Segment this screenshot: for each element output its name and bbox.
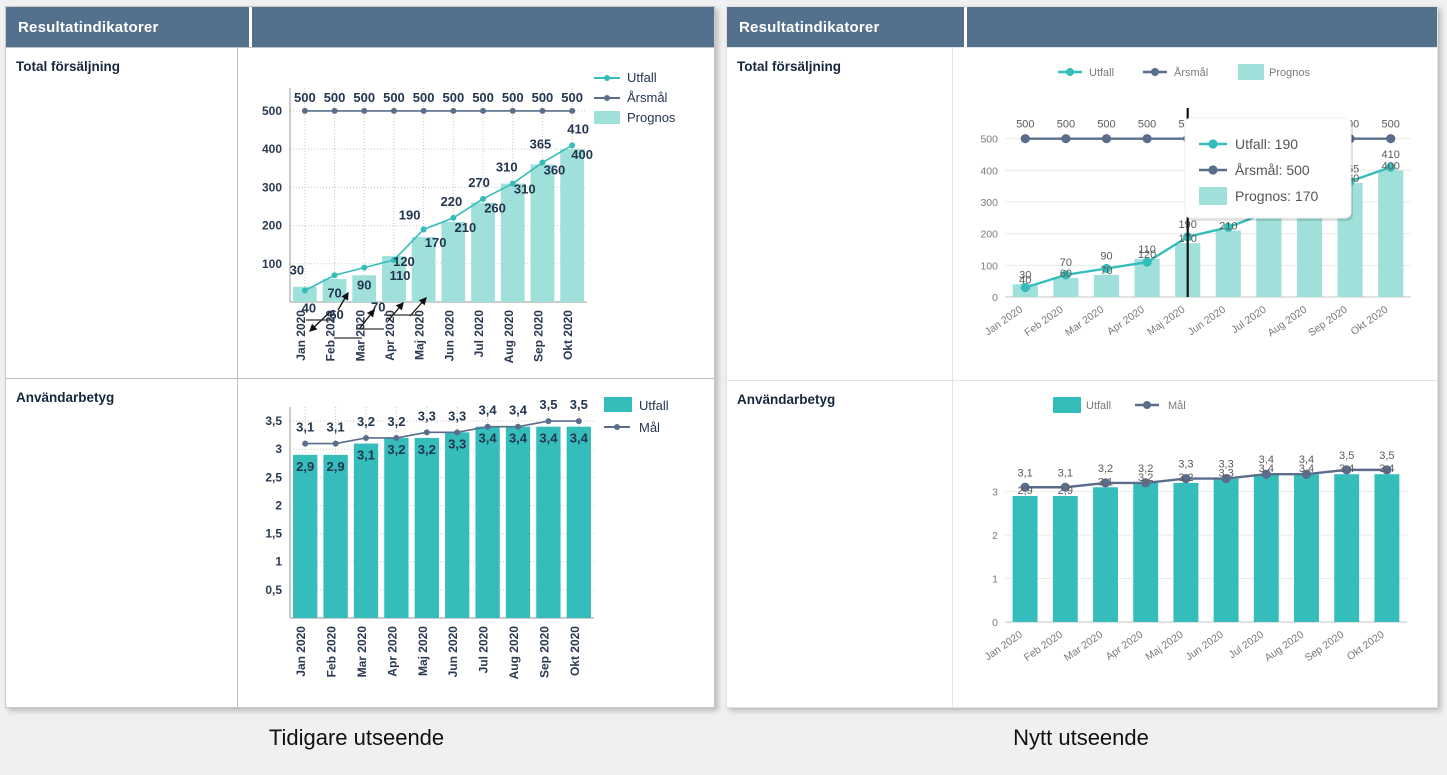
x-axis-tick-label: Jul 2020 bbox=[1229, 304, 1269, 337]
tooltip-label: Årsmål: 500 bbox=[1235, 162, 1310, 178]
value-label: 500 bbox=[532, 90, 554, 105]
value-label: 3,2 bbox=[387, 442, 405, 457]
data-point[interactable] bbox=[393, 435, 399, 441]
y-axis-tick-label: 100 bbox=[262, 257, 282, 271]
y-axis-tick-label: 500 bbox=[262, 104, 282, 118]
bar[interactable] bbox=[1093, 487, 1118, 622]
value-label: 3,1 bbox=[296, 420, 314, 435]
y-axis-tick-label: 200 bbox=[262, 219, 282, 233]
bar[interactable] bbox=[415, 438, 439, 618]
comparison-stage: Resultatindikatorer Total försäljning 10… bbox=[0, 0, 1447, 775]
value-label: 3,3 bbox=[1178, 459, 1193, 471]
x-axis-tick-label: Jun 2020 bbox=[446, 626, 460, 678]
x-axis-tick-label: Sep 2020 bbox=[1303, 629, 1347, 665]
x-axis-tick-label: Jan 2020 bbox=[294, 626, 308, 677]
chart-sales-new[interactable]: 0100200300400500Jan 2020Feb 2020Mar 2020… bbox=[953, 48, 1437, 379]
data-point[interactable] bbox=[480, 108, 486, 114]
data-point[interactable] bbox=[539, 108, 545, 114]
y-axis-tick-label: 0 bbox=[992, 292, 998, 304]
bar[interactable] bbox=[1053, 278, 1078, 297]
bar[interactable] bbox=[1254, 474, 1279, 622]
value-label: 120 bbox=[393, 254, 415, 269]
x-axis-tick-label: Sep 2020 bbox=[531, 310, 545, 362]
legend-label: Utfall bbox=[1086, 400, 1111, 412]
value-label: 3,5 bbox=[1379, 450, 1394, 462]
value-label: 500 bbox=[294, 90, 316, 105]
legend-item[interactable]: Mål bbox=[1135, 400, 1186, 412]
y-axis-tick-label: 1,5 bbox=[265, 527, 282, 541]
value-label: 3,4 bbox=[1379, 463, 1394, 475]
x-axis-tick-label: Apr 2020 bbox=[383, 310, 397, 361]
value-label: 3,4 bbox=[1339, 463, 1354, 475]
value-label: 500 bbox=[413, 90, 435, 105]
value-label: 365 bbox=[530, 137, 552, 152]
value-label: 2,9 bbox=[327, 459, 345, 474]
bar[interactable] bbox=[1216, 231, 1241, 298]
x-axis-tick-label: Maj 2020 bbox=[1145, 304, 1187, 339]
value-label: 500 bbox=[324, 90, 346, 105]
value-label: 310 bbox=[496, 160, 518, 175]
y-axis-tick-label: 300 bbox=[980, 197, 998, 209]
value-label: 3,4 bbox=[509, 431, 528, 446]
data-point[interactable] bbox=[1061, 134, 1070, 143]
value-label: 2,9 bbox=[1058, 485, 1073, 497]
legend-label: Mål bbox=[639, 420, 660, 435]
value-label: 310 bbox=[514, 182, 536, 197]
data-point[interactable] bbox=[450, 108, 456, 114]
x-axis-tick-label: Jan 2020 bbox=[983, 304, 1025, 339]
y-axis-tick-label: 3,5 bbox=[265, 414, 282, 428]
data-point[interactable] bbox=[302, 288, 308, 294]
x-axis-tick-label: Jan 2020 bbox=[983, 629, 1025, 664]
tooltip-label: Utfall: 190 bbox=[1235, 136, 1298, 152]
value-label: 60 bbox=[1060, 268, 1072, 280]
value-label: 70 bbox=[327, 285, 341, 300]
bar[interactable] bbox=[384, 438, 408, 618]
bar[interactable] bbox=[354, 444, 378, 618]
bar[interactable] bbox=[506, 427, 530, 618]
value-label: 3,5 bbox=[539, 397, 557, 412]
legend-label: Utfall bbox=[639, 398, 669, 413]
x-axis-tick-label: Sep 2020 bbox=[1306, 304, 1350, 340]
value-label: 3,4 bbox=[570, 431, 589, 446]
x-axis-tick-label: Apr 2020 bbox=[1105, 304, 1147, 338]
value-label: 260 bbox=[484, 201, 506, 216]
y-axis-tick-label: 200 bbox=[980, 229, 998, 241]
value-label: 3,1 bbox=[1017, 467, 1032, 479]
legend-label: Årsmål bbox=[627, 90, 668, 105]
bar[interactable] bbox=[536, 427, 560, 618]
value-label: 3,1 bbox=[1098, 476, 1113, 488]
tooltip-label: Prognos: 170 bbox=[1235, 188, 1318, 204]
value-label: 500 bbox=[442, 90, 464, 105]
x-axis-tick-label: Okt 2020 bbox=[1345, 629, 1387, 663]
data-point[interactable] bbox=[1021, 134, 1030, 143]
legend-item[interactable]: Årsmål bbox=[594, 90, 668, 105]
x-axis-tick-label: Okt 2020 bbox=[561, 310, 575, 360]
panel-new-design: Resultatindikatorer Total försäljning 01… bbox=[726, 6, 1438, 708]
value-label: 2,9 bbox=[1017, 485, 1032, 497]
chart-tooltip: Utfall: 190Årsmål: 500Prognos: 170 bbox=[1185, 118, 1353, 221]
value-label: 500 bbox=[472, 90, 494, 105]
value-label: 3,4 bbox=[479, 403, 498, 418]
value-label: 3,3 bbox=[1218, 459, 1233, 471]
data-point[interactable] bbox=[391, 108, 397, 114]
y-axis-tick-label: 1 bbox=[992, 574, 998, 586]
data-point[interactable] bbox=[515, 424, 521, 430]
legend-item[interactable]: Prognos bbox=[594, 110, 676, 125]
y-axis-tick-label: 400 bbox=[262, 142, 282, 156]
row-anvandarbetyg-old: Användarbetyg 0,511,522,533,5Jan 2020Feb… bbox=[6, 378, 714, 707]
x-axis-tick-label: Okt 2020 bbox=[1349, 304, 1391, 338]
panel-new-header: Resultatindikatorer bbox=[727, 7, 1437, 47]
y-axis-tick-label: 100 bbox=[980, 260, 998, 272]
x-axis-tick-label: Jul 2020 bbox=[1227, 629, 1267, 662]
data-point[interactable] bbox=[332, 108, 338, 114]
y-axis-tick-label: 2,5 bbox=[265, 470, 282, 484]
row-label-cell: Användarbetyg bbox=[727, 381, 952, 707]
legend-label: Prognos bbox=[627, 110, 676, 125]
bar[interactable] bbox=[1094, 275, 1119, 297]
x-axis-tick-label: Apr 2020 bbox=[1104, 629, 1146, 663]
chart-cell-sales-old: 100200300400500Jan 2020Feb 2020Mar 2020A… bbox=[237, 48, 714, 378]
y-axis-tick-label: 0,5 bbox=[265, 583, 282, 597]
chart-cell-rating-old: 0,511,522,533,5Jan 2020Feb 2020Mar 2020A… bbox=[237, 379, 714, 707]
x-axis-tick-label: Aug 2020 bbox=[1263, 629, 1307, 665]
value-label: 3,3 bbox=[418, 408, 436, 423]
value-label: 3,5 bbox=[570, 397, 588, 412]
value-label: 40 bbox=[302, 301, 316, 316]
value-label: 220 bbox=[440, 194, 462, 209]
panel-old-title: Resultatindikatorer bbox=[18, 19, 159, 36]
data-point[interactable] bbox=[361, 108, 367, 114]
x-axis-tick-label: Apr 2020 bbox=[385, 626, 399, 677]
value-label: 3,3 bbox=[448, 436, 466, 451]
bar[interactable] bbox=[293, 455, 317, 618]
panel-old-header: Resultatindikatorer bbox=[6, 7, 714, 47]
legend-label: Årsmål bbox=[1174, 66, 1208, 79]
caption-new-design: Nytt utseende bbox=[726, 725, 1436, 751]
chart-sales-old[interactable]: 100200300400500Jan 2020Feb 2020Mar 2020A… bbox=[238, 48, 714, 377]
value-label: 170 bbox=[425, 235, 447, 250]
value-label: 2,9 bbox=[296, 459, 314, 474]
data-point[interactable] bbox=[576, 418, 582, 424]
row-label-cell: Användarbetyg bbox=[6, 379, 237, 707]
row-label-cell: Total försäljning bbox=[727, 48, 952, 380]
bar[interactable] bbox=[1053, 496, 1078, 622]
row-label-total-forsaljning: Total försäljning bbox=[737, 59, 841, 74]
data-point[interactable] bbox=[363, 435, 369, 441]
bar[interactable] bbox=[1374, 474, 1399, 622]
x-axis-tick-label: Feb 2020 bbox=[325, 626, 339, 678]
value-label: 500 bbox=[1016, 119, 1034, 131]
data-point[interactable] bbox=[1386, 134, 1395, 143]
legend-item[interactable]: Utfall bbox=[1053, 397, 1111, 413]
value-label: 210 bbox=[1219, 221, 1237, 233]
panel-old-design: Resultatindikatorer Total försäljning 10… bbox=[5, 6, 715, 708]
value-label: 500 bbox=[1057, 119, 1075, 131]
value-label: 500 bbox=[353, 90, 375, 105]
value-label: 90 bbox=[1100, 251, 1112, 263]
value-label: 190 bbox=[399, 207, 421, 222]
data-point[interactable] bbox=[454, 429, 460, 435]
y-axis-tick-label: 3 bbox=[275, 442, 282, 456]
x-axis-tick-label: Jul 2020 bbox=[477, 626, 491, 674]
x-axis-tick-label: Mar 2020 bbox=[353, 310, 367, 362]
bar[interactable] bbox=[1013, 496, 1038, 622]
data-point[interactable] bbox=[332, 272, 338, 278]
x-axis-tick-label: Mar 2020 bbox=[1062, 629, 1105, 664]
value-label: 3,2 bbox=[1178, 472, 1193, 484]
value-label: 3,1 bbox=[327, 420, 345, 435]
header-blank-cell bbox=[967, 7, 1437, 47]
y-axis-tick-label: 500 bbox=[980, 134, 998, 146]
value-label: 3,2 bbox=[1138, 463, 1153, 475]
data-point[interactable] bbox=[421, 226, 427, 232]
bar[interactable] bbox=[1173, 483, 1198, 622]
value-label: 3,2 bbox=[1098, 463, 1113, 475]
value-label: 3,4 bbox=[509, 403, 528, 418]
value-label: 3,2 bbox=[357, 414, 375, 429]
bar[interactable] bbox=[1378, 170, 1403, 297]
bar[interactable] bbox=[445, 432, 469, 618]
value-label: 90 bbox=[357, 278, 371, 293]
bar[interactable] bbox=[471, 203, 495, 302]
value-label: 3,3 bbox=[448, 408, 466, 423]
x-axis-tick-label: Jun 2020 bbox=[1186, 304, 1228, 339]
value-label: 3,4 bbox=[539, 431, 558, 446]
value-label: 210 bbox=[454, 220, 476, 235]
chart-rating-new[interactable]: 0123Jan 2020Feb 2020Mar 2020Apr 2020Maj … bbox=[953, 381, 1437, 706]
x-axis-tick-label: Maj 2020 bbox=[413, 310, 427, 360]
row-label-anvandarbetyg: Användarbetyg bbox=[16, 390, 114, 405]
legend-item[interactable]: Årsmål bbox=[1143, 66, 1208, 79]
data-point[interactable] bbox=[421, 108, 427, 114]
y-axis-tick-label: 2 bbox=[992, 530, 998, 542]
legend-item[interactable]: Prognos bbox=[1238, 64, 1310, 80]
legend-item[interactable]: Utfall bbox=[594, 70, 657, 85]
x-axis-tick-label: Mar 2020 bbox=[355, 626, 369, 678]
data-point[interactable] bbox=[545, 418, 551, 424]
x-axis-tick-label: Aug 2020 bbox=[502, 310, 516, 364]
value-label: 500 bbox=[502, 90, 524, 105]
header-blank-cell bbox=[252, 7, 714, 47]
value-label: 3,1 bbox=[357, 448, 375, 463]
line-series bbox=[1025, 470, 1387, 487]
value-label: 110 bbox=[389, 268, 410, 283]
x-axis-tick-label: Sep 2020 bbox=[537, 626, 551, 678]
value-label: 3,2 bbox=[418, 442, 436, 457]
bar[interactable] bbox=[1214, 479, 1239, 622]
bar[interactable] bbox=[1256, 215, 1281, 297]
value-label: 360 bbox=[544, 162, 566, 177]
header-title-cell: Resultatindikatorer bbox=[727, 7, 964, 47]
value-label: 3,4 bbox=[1259, 454, 1274, 466]
value-label: 500 bbox=[383, 90, 405, 105]
y-axis-tick-label: 0 bbox=[992, 617, 998, 629]
bar[interactable] bbox=[567, 427, 591, 618]
x-axis-tick-label: Mar 2020 bbox=[1063, 304, 1106, 339]
value-label: 500 bbox=[561, 90, 583, 105]
bar[interactable] bbox=[1334, 474, 1359, 622]
data-point[interactable] bbox=[1143, 134, 1152, 143]
value-label: 500 bbox=[1382, 119, 1400, 131]
legend-item[interactable]: Utfall bbox=[1058, 67, 1114, 79]
data-point[interactable] bbox=[510, 108, 516, 114]
value-label: 70 bbox=[1100, 265, 1112, 277]
x-axis-tick-label: Okt 2020 bbox=[568, 626, 582, 676]
tooltip-row: Prognos: 170 bbox=[1199, 187, 1318, 205]
y-axis-tick-label: 1 bbox=[275, 555, 282, 569]
legend-label: Prognos bbox=[1269, 67, 1310, 79]
data-point[interactable] bbox=[302, 441, 308, 447]
bar[interactable] bbox=[1294, 474, 1319, 622]
x-axis-tick-label: Aug 2020 bbox=[507, 626, 521, 680]
value-label: 400 bbox=[1382, 160, 1400, 172]
value-label: 270 bbox=[468, 175, 490, 190]
caption-old-design: Tidigare utseende bbox=[0, 725, 713, 751]
legend-label: Utfall bbox=[1089, 67, 1114, 79]
legend-label: Utfall bbox=[627, 70, 657, 85]
data-point[interactable] bbox=[485, 424, 491, 430]
x-axis-tick-label: Feb 2020 bbox=[1022, 304, 1065, 339]
panel-new-title: Resultatindikatorer bbox=[739, 19, 880, 36]
row-label-anvandarbetyg: Användarbetyg bbox=[737, 392, 835, 407]
y-axis-tick-label: 3 bbox=[992, 487, 998, 499]
y-axis-tick-label: 300 bbox=[262, 180, 282, 194]
bar[interactable] bbox=[475, 427, 499, 618]
row-anvandarbetyg-new: Användarbetyg 0123Jan 2020Feb 2020Mar 20… bbox=[727, 380, 1437, 707]
header-title-cell: Resultatindikatorer bbox=[6, 7, 249, 47]
legend-label: Mål bbox=[1168, 400, 1186, 412]
bar[interactable] bbox=[1133, 483, 1158, 622]
data-point[interactable] bbox=[1102, 134, 1111, 143]
legend-item[interactable]: Utfall bbox=[604, 397, 669, 413]
legend-item[interactable]: Mål bbox=[604, 420, 660, 435]
value-label: 120 bbox=[1138, 249, 1156, 261]
x-axis-tick-label: Feb 2020 bbox=[1022, 629, 1065, 664]
data-point[interactable] bbox=[333, 441, 339, 447]
chart-cell-sales-new: 0100200300400500Jan 2020Feb 2020Mar 2020… bbox=[952, 48, 1437, 380]
value-label: 3,4 bbox=[1299, 454, 1314, 466]
value-label: 40 bbox=[1019, 274, 1031, 286]
data-point[interactable] bbox=[302, 108, 308, 114]
row-total-forsaljning-old: Total försäljning 100200300400500Jan 202… bbox=[6, 47, 714, 378]
value-label: 30 bbox=[290, 263, 304, 278]
x-axis-tick-label: Jan 2020 bbox=[294, 310, 308, 361]
x-axis-tick-label: Jun 2020 bbox=[1184, 629, 1226, 664]
y-axis-tick-label: 400 bbox=[980, 165, 998, 177]
x-axis-tick-label: Maj 2020 bbox=[416, 626, 430, 676]
data-point[interactable] bbox=[424, 429, 430, 435]
value-label: 410 bbox=[567, 121, 589, 136]
chart-cell-rating-new: 0123Jan 2020Feb 2020Mar 2020Apr 2020Maj … bbox=[952, 381, 1437, 707]
x-axis-tick-label: Maj 2020 bbox=[1143, 629, 1185, 664]
value-label: 400 bbox=[571, 147, 593, 162]
y-axis-tick-label: 2 bbox=[275, 498, 282, 512]
bar[interactable] bbox=[323, 455, 347, 618]
row-label-cell: Total försäljning bbox=[6, 48, 237, 378]
data-point[interactable] bbox=[361, 265, 367, 271]
value-label: 3,4 bbox=[479, 431, 498, 446]
value-label: 500 bbox=[1138, 119, 1156, 131]
value-label: 3,5 bbox=[1339, 450, 1354, 462]
data-point[interactable] bbox=[569, 108, 575, 114]
value-label: 3,1 bbox=[1058, 467, 1073, 479]
row-total-forsaljning-new: Total försäljning 0100200300400500Jan 20… bbox=[727, 47, 1437, 380]
row-label-total-forsaljning: Total försäljning bbox=[16, 59, 120, 74]
value-label: 500 bbox=[1097, 119, 1115, 131]
x-axis-tick-label: Jul 2020 bbox=[472, 310, 486, 358]
x-axis-tick-label: Aug 2020 bbox=[1266, 304, 1310, 340]
x-axis-tick-label: Jun 2020 bbox=[442, 310, 456, 362]
value-label: 3,2 bbox=[387, 414, 405, 429]
chart-rating-old[interactable]: 0,511,522,533,5Jan 2020Feb 2020Mar 2020A… bbox=[238, 379, 714, 706]
